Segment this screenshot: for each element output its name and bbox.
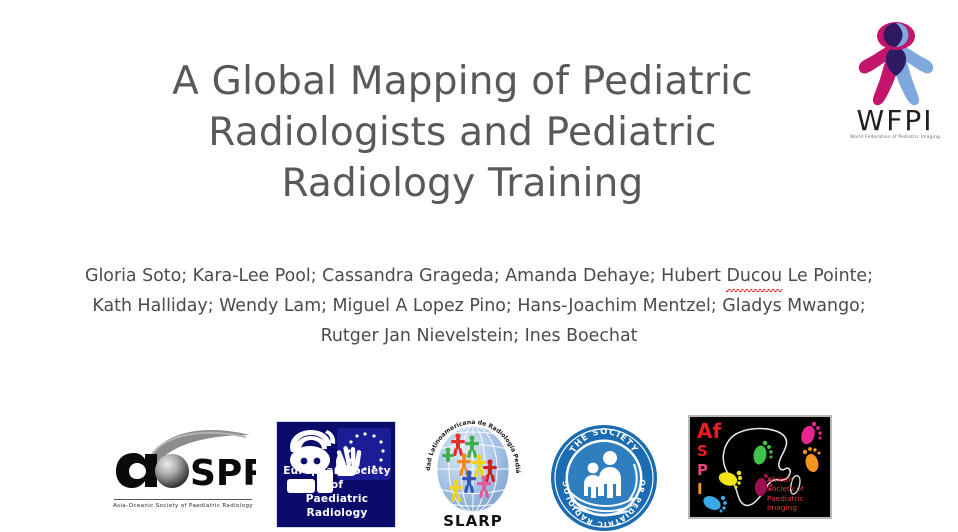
author-line-1-prefix: Gloria Soto; Kara-Lee Pool; Cassandra Gr… — [85, 266, 726, 286]
presentation-title-slide: A Global Mapping of Pediatric Radiologis… — [0, 0, 958, 532]
afspi-letter-i: I — [697, 480, 731, 499]
afspi-caption-line-2: Society of — [767, 484, 825, 494]
wfpi-logo: WFPI World Federation of Pediatric Imagi… — [840, 22, 950, 154]
spr-seal-icon: THE SOCIETY FOR PEDIATRIC RADIOLOGY — [549, 424, 659, 532]
wfpi-acronym: WFPI — [840, 104, 950, 137]
afspi-letter-af: Af — [697, 421, 731, 442]
afspi-caption-line-4: Imaging — [767, 503, 825, 513]
logo-espr: European Society of Paediatric Radiology — [276, 421, 396, 528]
afspi-caption: African Society of Paediatric Imaging — [767, 475, 825, 513]
aospr-divider — [114, 499, 252, 500]
wfpi-tagline: World Federation of Pediatric Imaging — [840, 135, 950, 140]
logo-slarp: Sociedad Latinoamericana de Radiología P… — [420, 418, 526, 530]
title-line-3: Radiology Training — [105, 158, 820, 209]
aospr-caption: Asia-Oceanic Society of Paediatric Radio… — [110, 503, 256, 509]
logo-spr: THE SOCIETY FOR PEDIATRIC RADIOLOGY — [549, 424, 659, 532]
logo-afspi: Af S P I African Society of Paediatric I… — [688, 415, 832, 519]
author-line-1-suffix: Le Pointe; — [782, 266, 873, 286]
title-line-1: A Global Mapping of Pediatric — [105, 56, 820, 107]
slarp-acronym: SLARP — [420, 512, 526, 530]
wfpi-figure-icon — [853, 22, 939, 106]
afspi-acronym: Af S P I — [697, 421, 731, 499]
author-line-3: Rutger Jan Nievelstein; Ines Boechat — [18, 321, 940, 351]
espr-caption-line-2: Paediatric Radiology — [277, 492, 397, 520]
afspi-caption-line-3: Paediatric — [767, 494, 825, 504]
svg-text:SPR: SPR — [190, 453, 256, 494]
author-line-2: Kath Halliday; Wendy Lam; Miguel A Lopez… — [18, 291, 940, 321]
afspi-letter-s: S — [697, 442, 731, 461]
afspi-caption-line-1: African — [767, 475, 825, 485]
espr-caption-line-1: European Society of — [277, 464, 397, 492]
author-list: Gloria Soto; Kara-Lee Pool; Cassandra Gr… — [18, 261, 940, 351]
afspi-letter-p: P — [697, 461, 731, 480]
logo-aospr: SPR Asia-Oceanic Society of Paediatric R… — [110, 425, 256, 511]
espr-caption: European Society of Paediatric Radiology — [277, 464, 397, 520]
title-line-2: Radiologists and Pediatric — [105, 107, 820, 158]
author-line-1: Gloria Soto; Kara-Lee Pool; Cassandra Gr… — [18, 261, 940, 291]
slarp-globe-icon: Sociedad Latinoamericana de Radiología P… — [420, 418, 526, 516]
page-title: A Global Mapping of Pediatric Radiologis… — [105, 56, 820, 209]
spellcheck-underlined-word: Ducou — [726, 261, 782, 291]
aospr-mark-icon: SPR — [110, 425, 256, 501]
